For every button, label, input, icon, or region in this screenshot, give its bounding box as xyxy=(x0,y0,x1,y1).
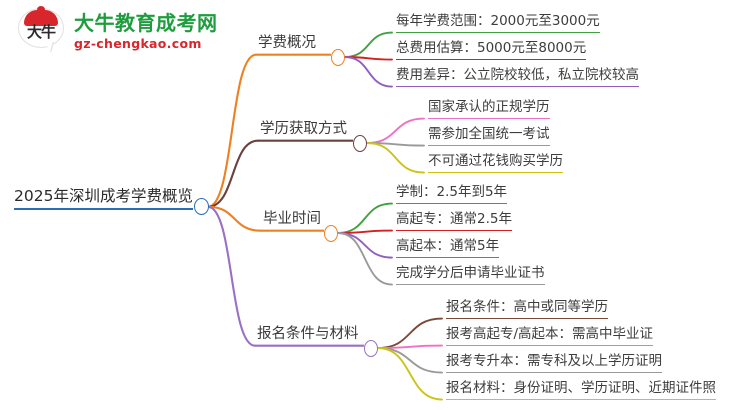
mindmap-branch-dot-3[interactable] xyxy=(324,225,338,242)
mindmap-branch-dot-1[interactable] xyxy=(331,49,345,66)
mindmap-branch-dot-4[interactable] xyxy=(364,340,378,357)
connector-path xyxy=(338,233,392,258)
connector-path xyxy=(345,33,392,57)
connector-path xyxy=(378,348,442,400)
connector-path xyxy=(378,319,442,348)
logo-bubble-icon: 大牛 xyxy=(18,8,66,54)
mindmap-branch-dot-2[interactable] xyxy=(353,135,367,152)
mindmap-leaf-node-1-3[interactable]: 费用差异：公立院校较低，私立院校较高 xyxy=(396,68,639,87)
connector-path xyxy=(367,119,424,143)
mindmap-leaf-node-4-1[interactable]: 报名条件：高中或同等学历 xyxy=(446,300,608,319)
mindmap-leaf-node-1-2[interactable]: 总费用估算：5000元至8000元 xyxy=(396,41,586,60)
mindmap-branch-node-2[interactable]: 学历获取方式 xyxy=(260,121,347,140)
connector-path xyxy=(208,141,258,207)
connector-path xyxy=(208,207,261,231)
logo-subtitle: gz-chengkao.com xyxy=(74,36,218,51)
connector-path xyxy=(338,204,392,233)
mindmap-branch-node-3[interactable]: 毕业时间 xyxy=(263,211,321,230)
mindmap-leaf-node-3-2[interactable]: 高起专：通常2.5年 xyxy=(396,212,512,231)
mindmap-leaf-node-3-4[interactable]: 完成学分后申请毕业证书 xyxy=(396,266,545,285)
mindmap-leaf-node-2-3[interactable]: 不可通过花钱购买学历 xyxy=(428,154,563,173)
mindmap-branch-node-1[interactable]: 学费概况 xyxy=(258,35,316,54)
mindmap-leaf-node-3-1[interactable]: 学制：2.5年到5年 xyxy=(396,185,507,204)
logo-title: 大牛教育成考网 xyxy=(74,12,218,35)
mindmap-leaf-node-1-1[interactable]: 每年学费范围：2000元至3000元 xyxy=(396,14,600,33)
connector-path xyxy=(367,143,424,173)
logo-bubble-tail-icon xyxy=(45,41,53,52)
logo-text-block: 大牛教育成考网 gz-chengkao.com xyxy=(74,12,218,51)
mindmap-branch-node-4[interactable]: 报名条件与材料 xyxy=(257,326,359,345)
mindmap-leaf-node-4-2[interactable]: 报考高起专/高起本：需高中毕业证 xyxy=(446,327,653,346)
site-logo[interactable]: 大牛 大牛教育成考网 gz-chengkao.com xyxy=(18,8,218,54)
connector-path xyxy=(345,57,392,87)
mindmap-leaf-node-3-3[interactable]: 高起本：通常5年 xyxy=(396,239,499,258)
mindmap-leaf-node-4-4[interactable]: 报名材料：身份证明、学历证明、近期证件照 xyxy=(446,381,716,400)
connector-path xyxy=(378,348,442,373)
mindmap-leaf-node-4-3[interactable]: 报考专升本：需专科及以上学历证明 xyxy=(446,354,662,373)
mindmap-root-node[interactable]: 2025年深圳成考学费概览 xyxy=(14,188,193,210)
logo-mark-text: 大牛 xyxy=(23,21,59,42)
mindmap-leaf-node-2-1[interactable]: 国家承认的正规学历 xyxy=(428,100,550,119)
mindmap-canvas: 大牛 大牛教育成考网 gz-chengkao.com 2025年深圳成考学费概览… xyxy=(0,0,750,410)
connector-path xyxy=(208,55,256,207)
mindmap-leaf-node-2-2[interactable]: 需参加全国统一考试 xyxy=(428,127,550,146)
connector-path xyxy=(338,233,392,285)
